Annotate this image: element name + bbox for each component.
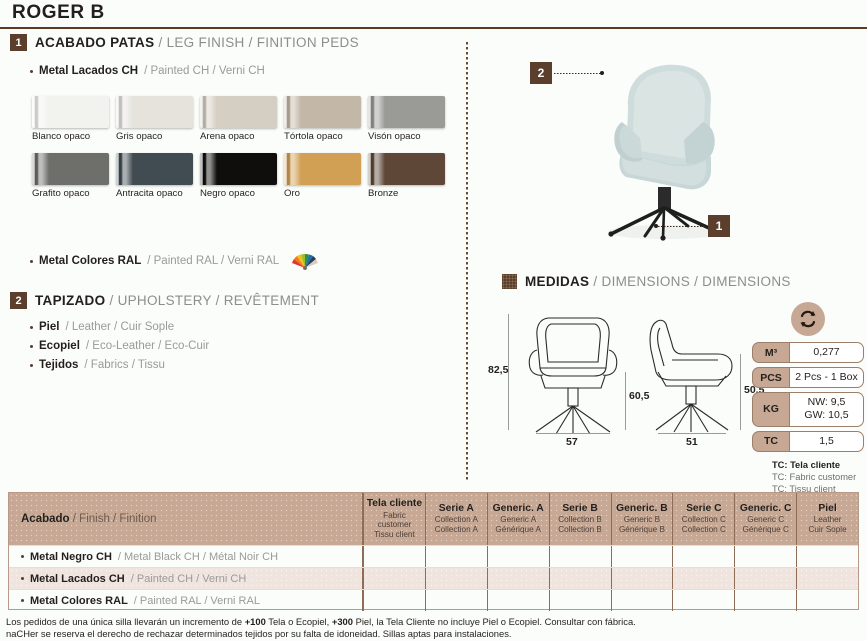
- spec-value: 0,277: [790, 342, 864, 363]
- bullet-dot-icon: [30, 364, 33, 367]
- swatch-cell: Gris opaco: [116, 96, 200, 142]
- swatch-chip[interactable]: [32, 96, 109, 128]
- finish-price-table: Acabado / Finish / Finition Tela cliente…: [8, 492, 859, 610]
- section-dimensions-header: MEDIDAS / DIMENSIONS / DIMENSIONS: [502, 274, 791, 289]
- spec-value: NW: 9,5 GW: 10,5: [790, 392, 864, 426]
- column-title: Generic. C: [737, 503, 794, 515]
- swatch-label: Tórtola opaco: [284, 131, 368, 142]
- bullet-dot-icon: [30, 345, 33, 348]
- swatch-chip[interactable]: [200, 153, 277, 185]
- bullet-dot-icon: [30, 260, 33, 263]
- swatch-cell: Bronze: [368, 153, 452, 199]
- bullet-dot-icon: [21, 599, 24, 602]
- column-sub-en: Generic B: [614, 515, 671, 525]
- spec-value: 2 Pcs - 1 Box: [790, 367, 864, 388]
- dimension-drawings: 82,5 60,5 57 50,5 51: [490, 306, 760, 456]
- footer-text-e: Piel, la Tela Cliente no incluye Piel o …: [353, 616, 636, 627]
- swatch-chip[interactable]: [284, 153, 361, 185]
- bullet-dot-icon: [30, 326, 33, 329]
- callout-badge-2[interactable]: 2: [530, 62, 552, 84]
- column-sub-en: Leather: [799, 515, 856, 525]
- finish-price-cell[interactable]: [426, 590, 488, 611]
- footer-text-c: Tela o Ecopiel,: [266, 616, 332, 627]
- finish-table-column-header: Serie BCollection BCollection B: [550, 493, 612, 545]
- finish-table-column-header: Generic. AGeneric AGénérique A: [488, 493, 550, 545]
- swatch-cell: Visón opaco: [368, 96, 452, 142]
- front-width-dim-line: [536, 433, 610, 434]
- column-title: Piel: [799, 503, 856, 515]
- finish-price-cell[interactable]: [426, 546, 488, 567]
- painted-ral-label-es: Metal Colores RAL: [39, 255, 141, 267]
- finish-price-cell[interactable]: [735, 546, 797, 567]
- spec-row-list: M³0,277PCS2 Pcs - 1 BoxKGNW: 9,5 GW: 10,…: [752, 342, 864, 452]
- table-row[interactable]: Metal Lacados CH/ Painted CH / Verni CH: [9, 567, 858, 589]
- finish-table-column-header: Serie CCollection CCollection C: [673, 493, 735, 545]
- column-title: Serie B: [552, 503, 609, 515]
- section-number-badge-2: 2: [10, 292, 27, 309]
- section-dimensions-title-es: MEDIDAS: [525, 274, 589, 289]
- finish-price-cell[interactable]: [612, 590, 674, 611]
- tc-note-en: TC: Fabric customer: [772, 471, 864, 483]
- section-dimensions-title: MEDIDAS / DIMENSIONS / DIMENSIONS: [525, 274, 791, 289]
- finish-price-cell[interactable]: [426, 568, 488, 589]
- column-sub-fr: Collection A: [428, 525, 485, 535]
- finish-row-label: Metal Lacados CH/ Painted CH / Verni CH: [9, 568, 364, 589]
- finish-table-column-header: Serie ACollection ACollection A: [426, 493, 488, 545]
- column-sub-en: Fabric customer: [366, 511, 423, 530]
- swatch-chip[interactable]: [32, 153, 109, 185]
- column-title: Generic. B: [614, 503, 671, 515]
- swatch-label: Bronze: [368, 188, 452, 199]
- front-seat-height-dim-line: [625, 372, 626, 430]
- side-depth-dim-line: [658, 433, 726, 434]
- column-title: Serie C: [675, 503, 732, 515]
- column-title: Serie A: [428, 503, 485, 515]
- finish-price-cell[interactable]: [797, 546, 858, 567]
- section-leg-finish-title-translations: / LEG FINISH / FINITION PEDS: [158, 35, 358, 50]
- finish-row-label-es: Metal Lacados CH: [30, 573, 125, 585]
- finish-row-label-translations: / Painted RAL / Verni RAL: [134, 595, 260, 607]
- leg-finish-swatch-grid: Blanco opacoGris opacoArena opacoTórtola…: [32, 96, 452, 199]
- upholstery-item-label-translations: / Eco-Leather / Eco-Cuir: [86, 340, 209, 352]
- swatch-chip[interactable]: [368, 96, 445, 128]
- footer-increment-100: +100: [245, 616, 266, 627]
- swatch-label: Grafito opaco: [32, 188, 116, 199]
- bullet-dot-icon: [30, 70, 33, 73]
- side-seat-height-dim-line: [740, 354, 741, 430]
- swatch-label: Visón opaco: [368, 131, 452, 142]
- page-title: ROGER B: [12, 2, 105, 24]
- swatch-cell: Blanco opaco: [32, 96, 116, 142]
- column-sub-fr: Générique B: [614, 525, 671, 535]
- finish-price-cell[interactable]: [550, 546, 612, 567]
- spec-key: TC: [752, 431, 790, 452]
- finish-table-header-acabado: Acabado / Finish / Finition: [9, 493, 364, 545]
- product-photo: [570, 56, 760, 241]
- tc-note: TC: Tela cliente TC: Fabric customer TC:…: [752, 459, 864, 495]
- painted-ral-row: Metal Colores RAL / Painted RAL / Verni …: [0, 250, 456, 272]
- finish-price-cell[interactable]: [735, 590, 797, 611]
- column-sub-en: Generic C: [737, 515, 794, 525]
- title-divider: [0, 27, 867, 29]
- front-height-value: 82,5: [488, 364, 508, 376]
- callout-leader-dot-1: [654, 224, 658, 228]
- upholstery-item-label-es: Piel: [39, 321, 59, 333]
- finish-price-cell[interactable]: [797, 590, 858, 611]
- column-sub-fr: Collection B: [552, 525, 609, 535]
- column-sub-en: Collection C: [675, 515, 732, 525]
- swatch-label: Antracita opaco: [116, 188, 200, 199]
- finish-price-cell[interactable]: [673, 568, 735, 589]
- upholstery-item: Ecopiel/ Eco-Leather / Eco-Cuir: [30, 340, 456, 352]
- finish-price-cell[interactable]: [364, 590, 426, 611]
- swatch-chip[interactable]: [284, 96, 361, 128]
- swatch-chip[interactable]: [116, 96, 193, 128]
- swatch-cell: Tórtola opaco: [284, 96, 368, 142]
- column-sub-fr: Générique A: [490, 525, 547, 535]
- column-title: Generic. A: [490, 503, 547, 515]
- section-number-badge-1: 1: [10, 34, 27, 51]
- swatch-label: Blanco opaco: [32, 131, 116, 142]
- swatch-label: Gris opaco: [116, 131, 200, 142]
- finish-table-body: Metal Negro CH/ Metal Black CH / Métal N…: [9, 545, 858, 611]
- tc-note-es: TC: Tela cliente: [772, 459, 864, 471]
- swatch-chip[interactable]: [200, 96, 277, 128]
- section-upholstery-title: TAPIZADO / UPHOLSTERY / REVÊTEMENT: [35, 293, 319, 308]
- footer-text-a: Los pedidos de una única silla llevarán …: [6, 616, 245, 627]
- recycle-icon: [791, 302, 825, 336]
- upholstery-item-label-translations: / Leather / Cuir Sople: [65, 321, 174, 333]
- column-sub-en: Generic A: [490, 515, 547, 525]
- finish-table-column-header: Tela clienteFabric customerTissu client: [364, 493, 426, 545]
- finish-price-cell[interactable]: [673, 590, 735, 611]
- finish-price-cell[interactable]: [488, 590, 550, 611]
- bullet-dot-icon: [21, 577, 24, 580]
- front-width-value: 57: [566, 436, 578, 448]
- finish-price-cell[interactable]: [364, 546, 426, 567]
- finish-price-cell[interactable]: [673, 546, 735, 567]
- finish-table-header-row: Acabado / Finish / Finition Tela cliente…: [9, 493, 858, 545]
- finish-table-header-acabado-es: Acabado: [21, 513, 70, 525]
- finish-price-cell[interactable]: [612, 546, 674, 567]
- finish-table-column-header: Generic. CGeneric CGénérique C: [735, 493, 797, 545]
- painted-ch-label-es: Metal Lacados CH: [39, 65, 138, 77]
- finish-row-label-es: Metal Colores RAL: [30, 595, 128, 607]
- upholstery-item-list: Piel/ Leather / Cuir SopleEcopiel/ Eco-L…: [0, 321, 456, 371]
- finish-price-cell[interactable]: [797, 568, 858, 589]
- finish-table-column-header: Generic. BGeneric BGénérique B: [612, 493, 674, 545]
- chair-front-view: [518, 310, 628, 442]
- column-sub-fr: Collection C: [675, 525, 732, 535]
- upholstery-item-label-es: Ecopiel: [39, 340, 80, 352]
- column-sub-fr: Cuir Sople: [799, 525, 856, 535]
- finish-table-column-header: PielLeatherCuir Sople: [797, 493, 858, 545]
- finish-price-cell[interactable]: [488, 568, 550, 589]
- finish-row-label-es: Metal Negro CH: [30, 551, 112, 563]
- painted-ch-label-translations: / Painted CH / Verni CH: [144, 65, 265, 77]
- finish-price-cell[interactable]: [364, 568, 426, 589]
- callout-leader-dot-2: [600, 71, 604, 75]
- finish-price-cell[interactable]: [488, 546, 550, 567]
- upholstery-item-label-translations: / Fabrics / Tissu: [84, 359, 165, 371]
- finish-row-label: Metal Colores RAL/ Painted RAL / Verni R…: [9, 590, 364, 611]
- finish-row-label-translations: / Painted CH / Verni CH: [131, 573, 247, 585]
- upholstery-item-label-es: Tejidos: [39, 359, 78, 371]
- callout-leader-line-2: [554, 73, 602, 74]
- dimensions-badge-icon: [502, 274, 517, 289]
- section-upholstery-title-es: TAPIZADO: [35, 293, 105, 308]
- callout-leader-line-1: [658, 226, 706, 227]
- finish-price-cell[interactable]: [550, 568, 612, 589]
- spec-value: 1,5: [790, 431, 864, 452]
- finish-row-label-translations: / Metal Black CH / Métal Noir CH: [118, 551, 278, 563]
- table-row[interactable]: Metal Negro CH/ Metal Black CH / Métal N…: [9, 545, 858, 567]
- swatch-chip[interactable]: [116, 153, 193, 185]
- swatch-label: Negro opaco: [200, 188, 284, 199]
- chair-side-view: [642, 310, 752, 442]
- section-upholstery: 2 TAPIZADO / UPHOLSTERY / REVÊTEMENT Pie…: [0, 292, 456, 371]
- swatch-cell: Negro opaco: [200, 153, 284, 199]
- finish-row-label: Metal Negro CH/ Metal Black CH / Métal N…: [9, 546, 364, 567]
- finish-price-cell[interactable]: [735, 568, 797, 589]
- swatch-label: Oro: [284, 188, 368, 199]
- painted-ch-line: Metal Lacados CH / Painted CH / Verni CH: [30, 65, 456, 77]
- bullet-dot-icon: [21, 555, 24, 558]
- swatch-chip[interactable]: [368, 153, 445, 185]
- section-dimensions-title-translations: / DIMENSIONS / DIMENSIONS: [593, 274, 790, 289]
- upholstery-item: Piel/ Leather / Cuir Sople: [30, 321, 456, 333]
- column-title: Tela cliente: [366, 498, 423, 510]
- column-sub-en: Collection A: [428, 515, 485, 525]
- swatch-cell: Grafito opaco: [32, 153, 116, 199]
- upholstery-item: Tejidos/ Fabrics / Tissu: [30, 359, 456, 371]
- spec-row: KGNW: 9,5 GW: 10,5: [752, 392, 864, 426]
- footer-increment-300: +300: [332, 616, 353, 627]
- painted-ral-line: Metal Colores RAL / Painted RAL / Verni …: [30, 250, 456, 272]
- side-depth-value: 51: [686, 436, 698, 448]
- table-row[interactable]: Metal Colores RAL/ Painted RAL / Verni R…: [9, 589, 858, 611]
- footer-line-2: naCHer se reserva el derecho de rechazar…: [6, 628, 861, 640]
- spec-key: KG: [752, 392, 790, 426]
- painted-ral-label-translations: / Painted RAL / Verni RAL: [147, 255, 279, 267]
- spec-row: TC1,5: [752, 431, 864, 452]
- section-leg-finish-header: 1 ACABADO PATAS / LEG FINISH / FINITION …: [10, 34, 456, 51]
- section-upholstery-header: 2 TAPIZADO / UPHOLSTERY / REVÊTEMENT: [10, 292, 456, 309]
- swatch-cell: Antracita opaco: [116, 153, 200, 199]
- swatch-label: Arena opaco: [200, 131, 284, 142]
- footer-line-1: Los pedidos de una única silla llevarán …: [6, 616, 861, 628]
- column-sub-fr: Générique C: [737, 525, 794, 535]
- section-leg-finish-title-es: ACABADO PATAS: [35, 35, 154, 50]
- spec-table: M³0,277PCS2 Pcs - 1 BoxKGNW: 9,5 GW: 10,…: [752, 302, 864, 495]
- spec-row: M³0,277: [752, 342, 864, 363]
- swatch-cell: Oro: [284, 153, 368, 199]
- right-column: 2 1 MEDIDAS / DIMENSIONS / DIMENSIONS: [470, 34, 867, 484]
- spec-key: M³: [752, 342, 790, 363]
- section-leg-finish-title: ACABADO PATAS / LEG FINISH / FINITION PE…: [35, 35, 359, 50]
- callout-badge-1[interactable]: 1: [708, 215, 730, 237]
- finish-table-header-acabado-translations: / Finish / Finition: [73, 513, 157, 525]
- spec-key: PCS: [752, 367, 790, 388]
- column-sub-en: Collection B: [552, 515, 609, 525]
- finish-price-cell[interactable]: [612, 568, 674, 589]
- spec-row: PCS2 Pcs - 1 Box: [752, 367, 864, 388]
- finish-price-cell[interactable]: [550, 590, 612, 611]
- footer-disclaimer: Los pedidos de una única silla llevarán …: [6, 616, 861, 641]
- column-sub-fr: Tissu client: [366, 530, 423, 540]
- section-upholstery-title-translations: / UPHOLSTERY / REVÊTEMENT: [109, 293, 319, 308]
- color-fan-icon: [291, 250, 321, 272]
- left-column: 1 ACABADO PATAS / LEG FINISH / FINITION …: [0, 34, 456, 484]
- vertical-divider: [466, 42, 468, 480]
- swatch-cell: Arena opaco: [200, 96, 284, 142]
